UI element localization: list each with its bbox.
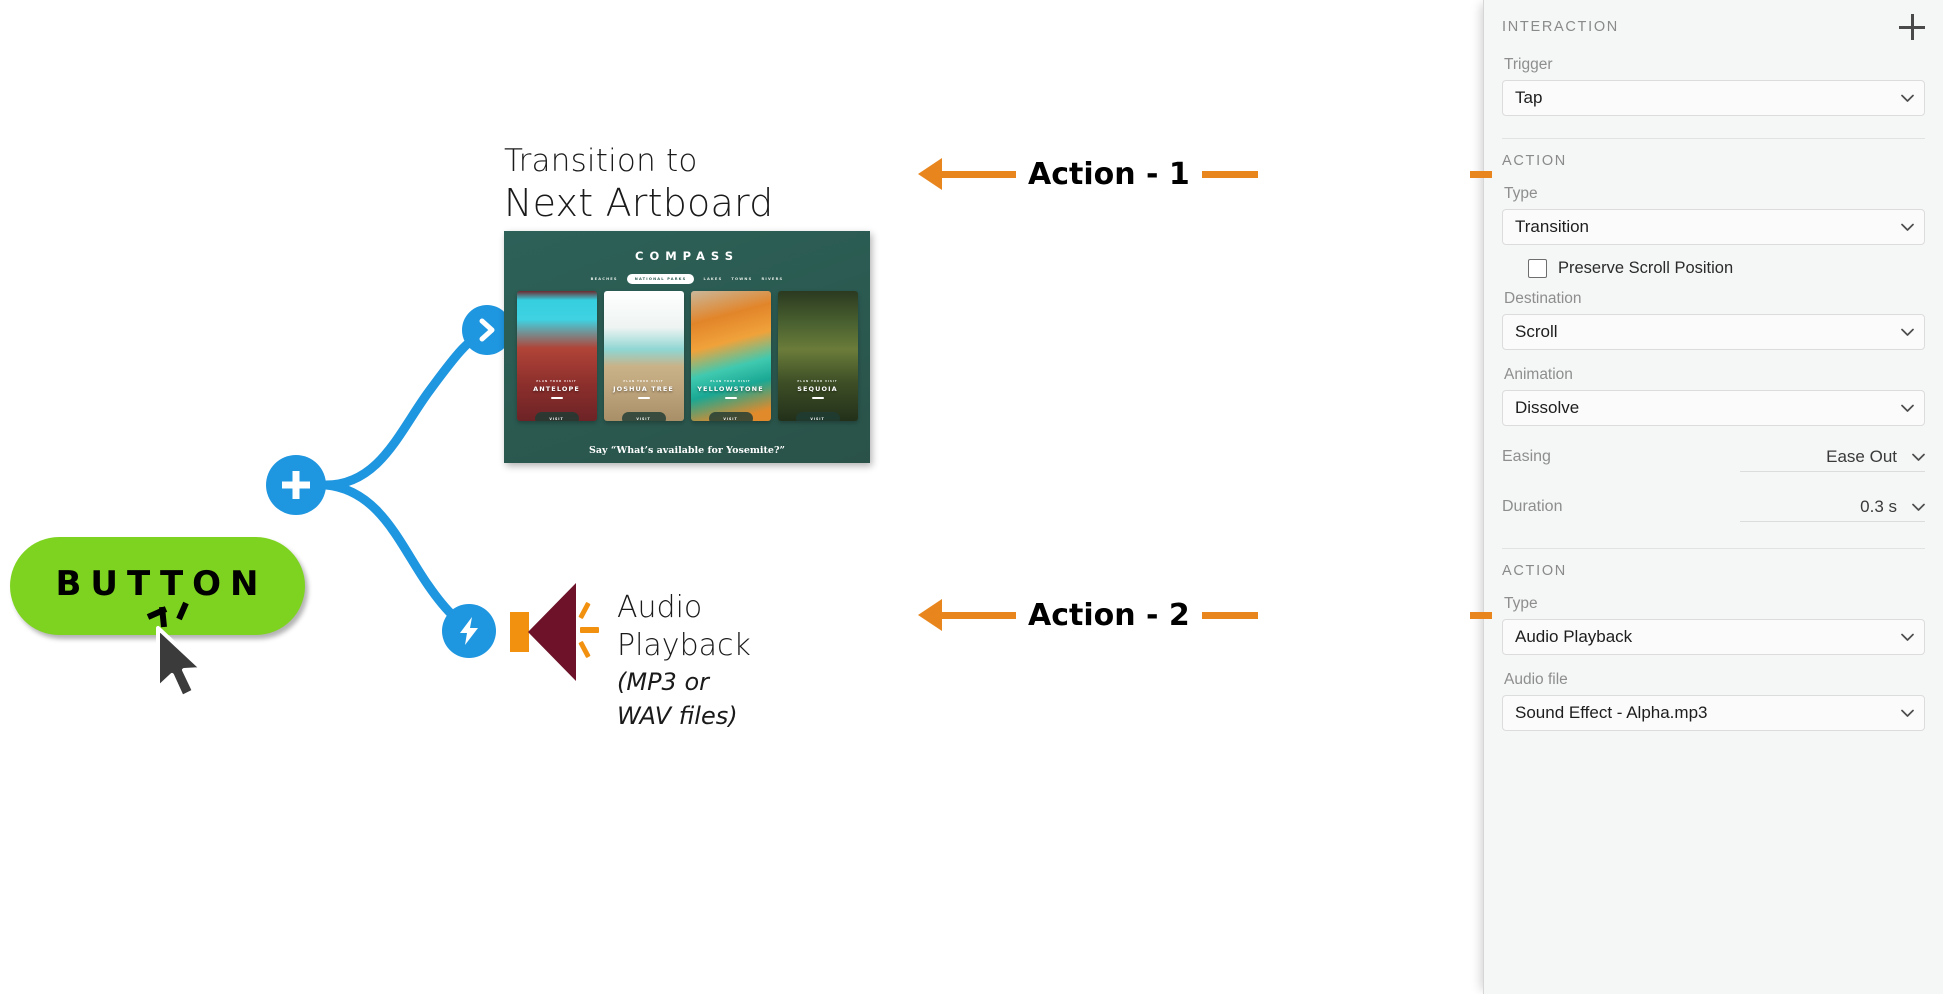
duration-value: 0.3 s xyxy=(1860,497,1897,517)
annotation-bar xyxy=(942,612,1016,619)
destination-label: Destination xyxy=(1504,290,1925,308)
screenshot-root: BUTTON xyxy=(0,0,1943,994)
transition-label: Transition to Next Artboard xyxy=(504,142,773,226)
chevron-down-icon xyxy=(1901,633,1912,644)
duration-row: Duration 0.3 s xyxy=(1502,492,1925,522)
chevron-down-icon xyxy=(1912,453,1923,464)
action-1-title: ACTION xyxy=(1502,153,1567,169)
chevron-down-icon xyxy=(1901,94,1912,105)
artboard-card-visit-button[interactable]: VISIT xyxy=(796,412,840,421)
artboard-card[interactable]: PLAN YOUR VISIT YELLOWSTONE VISIT xyxy=(691,291,771,421)
artboard-card[interactable]: PLAN YOUR VISIT ANTELOPE VISIT xyxy=(517,291,597,421)
action-2-title: ACTION xyxy=(1502,563,1567,579)
artboard-nav: BEACHES NATIONAL PARKS LAKES TOWNS RIVER… xyxy=(504,274,870,284)
animation-select[interactable]: Dissolve xyxy=(1502,390,1925,426)
audio-file-label: Audio file xyxy=(1504,671,1925,689)
artboard-card-visit-button[interactable]: VISIT xyxy=(535,412,579,421)
artboard-nav-item-towns[interactable]: TOWNS xyxy=(731,277,752,281)
audio-playback-title: Audio Playback xyxy=(617,589,751,665)
artboard-title: COMPASS xyxy=(504,249,870,263)
artboard-card-visit-button[interactable]: VISIT xyxy=(622,412,666,421)
artboard-card-visit-button[interactable]: VISIT xyxy=(709,412,753,421)
preserve-scroll-checkbox[interactable] xyxy=(1528,259,1547,278)
mouse-cursor-icon xyxy=(152,625,214,703)
preserve-scroll-row[interactable]: Preserve Scroll Position xyxy=(1528,259,1925,278)
panel-section-interaction: INTERACTION Trigger Tap xyxy=(1484,0,1943,139)
transition-label-line2: Next Artboard xyxy=(504,180,773,226)
trigger-select-value: Tap xyxy=(1515,88,1542,108)
chevron-down-icon xyxy=(1901,709,1912,720)
destination-select[interactable]: Scroll xyxy=(1502,314,1925,350)
action-1-type-label: Type xyxy=(1504,185,1925,203)
interaction-header: INTERACTION xyxy=(1502,0,1925,40)
chevron-down-icon xyxy=(1901,404,1912,415)
annotation-action-1: Action - 1 xyxy=(918,152,1258,196)
artboard-card-divider xyxy=(638,397,650,400)
artboard-card-list: PLAN YOUR VISIT ANTELOPE VISIT PLAN YOUR… xyxy=(504,291,870,421)
artboard-nav-item-beaches[interactable]: BEACHES xyxy=(591,277,618,281)
chevron-down-icon xyxy=(1901,223,1912,234)
artboard-nav-item-national-parks[interactable]: NATIONAL PARKS xyxy=(627,274,695,284)
action-2-type-label: Type xyxy=(1504,595,1925,613)
easing-label: Easing xyxy=(1502,448,1551,466)
artboard-card-divider xyxy=(551,397,563,400)
panel-section-action-1: ACTION Type Transition Preserve Scroll P… xyxy=(1484,139,1943,549)
audio-playback-subtitle: (MP3 or WAV files) xyxy=(617,665,751,733)
annotation-bar xyxy=(942,171,1016,178)
design-canvas: BUTTON xyxy=(0,0,1483,994)
trigger-label: Trigger xyxy=(1504,56,1925,74)
audio-playback-label: Audio Playback (MP3 or WAV files) xyxy=(617,589,751,733)
arrow-left-icon xyxy=(918,599,942,631)
action-2-header: ACTION xyxy=(1502,549,1925,579)
animation-label: Animation xyxy=(1504,366,1925,384)
speaker-cone-icon xyxy=(528,583,576,681)
artboard-card-kicker: PLAN YOUR VISIT xyxy=(778,380,858,383)
action-2-type-select[interactable]: Audio Playback xyxy=(1502,619,1925,655)
artboard-card-kicker: PLAN YOUR VISIT xyxy=(604,380,684,383)
annotation-action-1-label: Action - 1 xyxy=(1016,157,1202,192)
annotation-bar xyxy=(1202,171,1258,178)
speaker-icon xyxy=(510,612,529,652)
arrow-left-icon xyxy=(918,158,942,190)
lightning-bolt-icon xyxy=(456,615,482,647)
animation-value: Dissolve xyxy=(1515,398,1579,418)
panel-section-action-2: ACTION Type Audio Playback Audio file So… xyxy=(1484,549,1943,731)
artboard-nav-item-rivers[interactable]: RIVERS xyxy=(761,277,783,281)
action-1-type-select[interactable]: Transition xyxy=(1502,209,1925,245)
annotation-bar xyxy=(1202,612,1258,619)
annotation-action-2: Action - 2 xyxy=(918,593,1258,637)
artboard-card-name: SEQUOIA xyxy=(778,385,858,393)
audio-file-select[interactable]: Sound Effect - Alpha.mp3 xyxy=(1502,695,1925,731)
action-1-type-value: Transition xyxy=(1515,217,1589,237)
artboard-card-name: ANTELOPE xyxy=(517,385,597,393)
sound-wave-icon xyxy=(580,627,599,633)
action-2-type-value: Audio Playback xyxy=(1515,627,1632,647)
artboard-card-kicker: PLAN YOUR VISIT xyxy=(517,380,597,383)
artboard-card-name: YELLOWSTONE xyxy=(691,385,771,393)
artboard-thumbnail[interactable]: COMPASS BEACHES NATIONAL PARKS LAKES TOW… xyxy=(504,231,870,463)
connector-node-audio[interactable] xyxy=(442,604,496,658)
artboard-card[interactable]: PLAN YOUR VISIT JOSHUA TREE VISIT xyxy=(604,291,684,421)
audio-file-value: Sound Effect - Alpha.mp3 xyxy=(1515,703,1707,723)
duration-label: Duration xyxy=(1502,498,1562,516)
destination-value: Scroll xyxy=(1515,322,1558,342)
artboard-card-kicker: PLAN YOUR VISIT xyxy=(691,380,771,383)
plus-icon xyxy=(278,467,314,503)
preserve-scroll-label: Preserve Scroll Position xyxy=(1558,259,1733,278)
artboard-card-divider xyxy=(812,397,824,400)
connector-node-plus[interactable] xyxy=(266,455,326,515)
add-interaction-button[interactable] xyxy=(1899,14,1925,40)
annotation-tick xyxy=(1470,612,1492,619)
interaction-panel: INTERACTION Trigger Tap ACTION Type Tran… xyxy=(1483,0,1943,994)
artboard-nav-item-lakes[interactable]: LAKES xyxy=(703,277,722,281)
artboard-card-name: JOSHUA TREE xyxy=(604,385,684,393)
artboard-footer-text: Say “What’s available for Yosemite?” xyxy=(504,445,870,456)
artboard-card[interactable]: PLAN YOUR VISIT SEQUOIA VISIT xyxy=(778,291,858,421)
transition-label-line1: Transition to xyxy=(504,142,773,180)
easing-row: Easing Ease Out xyxy=(1502,442,1925,472)
annotation-action-2-label: Action - 2 xyxy=(1016,598,1202,633)
chevron-right-icon xyxy=(476,318,498,342)
chevron-down-icon xyxy=(1901,328,1912,339)
annotation-tick xyxy=(1470,171,1492,178)
chevron-down-icon xyxy=(1912,503,1923,514)
easing-select[interactable]: Ease Out xyxy=(1740,442,1925,472)
trigger-select[interactable]: Tap xyxy=(1502,80,1925,116)
interaction-title: INTERACTION xyxy=(1502,19,1619,35)
artboard-card-divider xyxy=(725,397,737,400)
action-1-header: ACTION xyxy=(1502,139,1925,169)
duration-select[interactable]: 0.3 s xyxy=(1740,492,1925,522)
easing-value: Ease Out xyxy=(1826,447,1897,467)
